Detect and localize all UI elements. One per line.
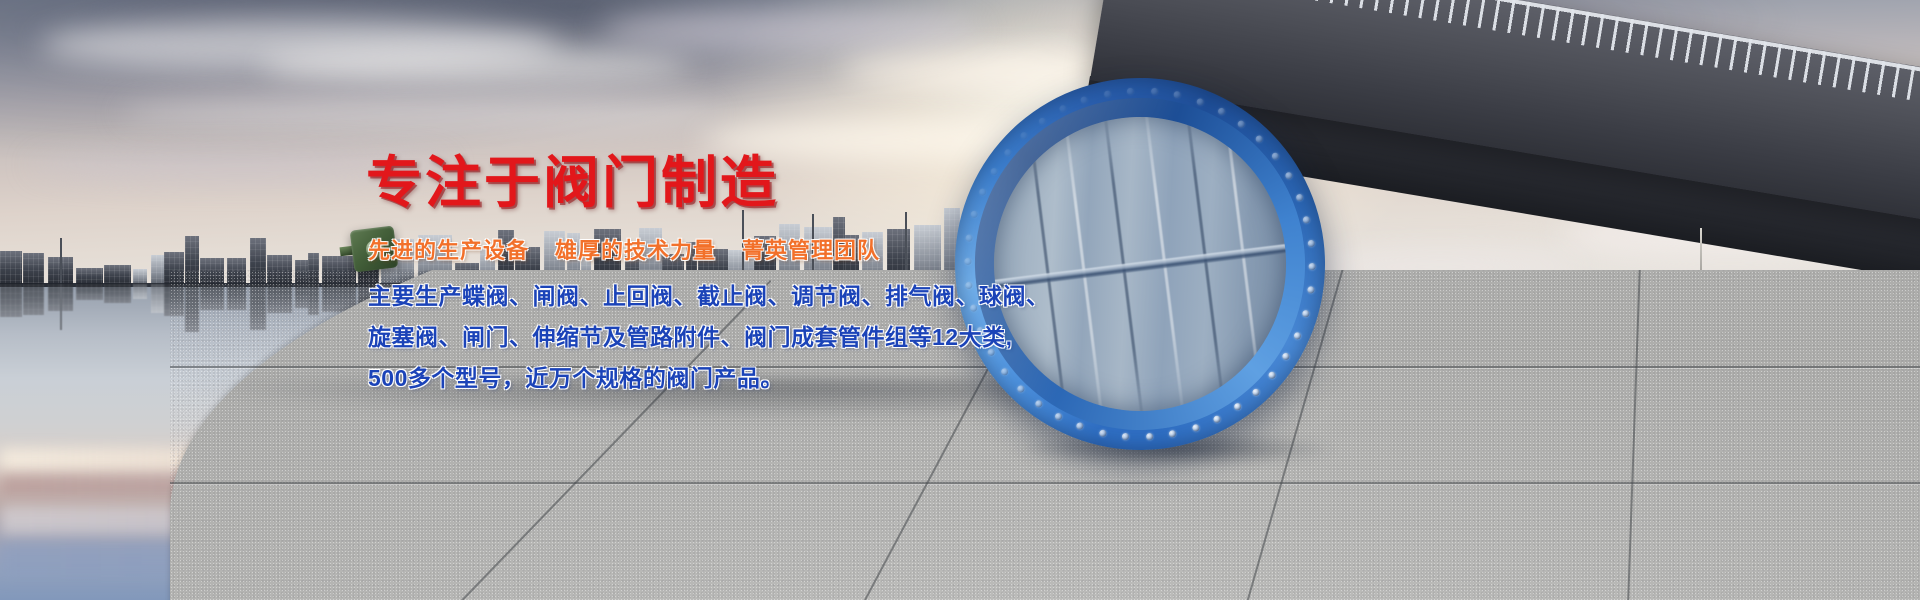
flange-bolt-hole bbox=[1099, 429, 1107, 437]
pavement-seam bbox=[170, 482, 1920, 484]
flange-bolt-hole bbox=[1295, 193, 1303, 201]
flange-bolt-hole bbox=[1103, 90, 1111, 98]
product-description: 主要生产蝶阀、闸阀、止回阀、截止阀、调节阀、排气阀、球阀、 旋塞阀、闸门、伸缩节… bbox=[368, 281, 1066, 394]
flange-bolt-hole bbox=[1307, 239, 1315, 247]
flange-bolt-hole bbox=[1293, 332, 1301, 340]
page-title: 专注于阀门制造 bbox=[366, 152, 1066, 215]
tagline-part-1: 先进的生产设备 bbox=[368, 238, 529, 263]
flange-bolt-hole bbox=[1196, 98, 1204, 106]
tagline-part-3: 菁英管理团队 bbox=[742, 238, 880, 263]
tagline-part-2: 雄厚的技术力量 bbox=[555, 238, 716, 263]
description-line: 500多个型号，近万个规格的阀门产品。 bbox=[368, 363, 1066, 394]
flange-bolt-hole bbox=[1301, 309, 1309, 317]
tagline-row: 先进的生产设备雄厚的技术力量菁英管理团队 bbox=[368, 233, 1066, 265]
promo-banner: 专注于阀门制造 先进的生产设备雄厚的技术力量菁英管理团队 主要生产蝶阀、闸阀、止… bbox=[0, 0, 1920, 600]
description-line: 主要生产蝶阀、闸阀、止回阀、截止阀、调节阀、排气阀、球阀、 bbox=[368, 281, 1066, 312]
banner-copy-block: 专注于阀门制造 先进的生产设备雄厚的技术力量菁英管理团队 主要生产蝶阀、闸阀、止… bbox=[366, 152, 1066, 404]
flange-bolt-hole bbox=[1150, 87, 1158, 95]
description-line: 旋塞阀、闸门、伸缩节及管路附件、阀门成套管件组等12大类, bbox=[368, 322, 1066, 353]
